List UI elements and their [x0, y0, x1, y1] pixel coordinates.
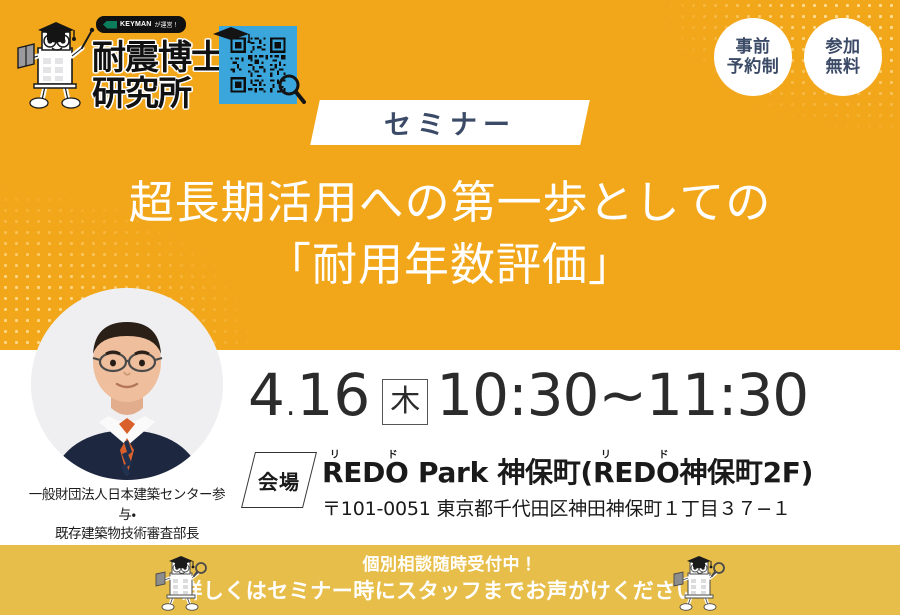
kicker-sub-label: が運営！: [155, 20, 179, 29]
speaker-role-line1: 一般財団法人日本建築センター参与・: [22, 486, 232, 525]
badge-free-line2: 無料: [826, 57, 861, 77]
keyman-mark-icon: [103, 21, 117, 29]
venue-lines: REDOリ ド Park 神保町(REDOリ ド神保町2F) 〒101-0051…: [322, 448, 813, 521]
page-title-line2: 「耐用年数評価」: [0, 234, 900, 296]
magnifying-glass-icon: [278, 74, 306, 104]
venue-address: 〒101-0051 東京都千代田区神田神保町１丁目３７−１: [322, 494, 813, 521]
details-section: 一般財団法人日本建築センター参与・ 既存建築物技術審査部長 元木 周二様 4 .…: [0, 350, 900, 545]
venue-name-part4: 神保町2F): [679, 456, 813, 489]
speaker-portrait-icon: [31, 288, 223, 480]
venue-name-ruby2: REDOリ ド: [593, 456, 680, 489]
event-month: 4: [248, 366, 285, 424]
speaker-role-line2: 既存建築物技術審査部長: [22, 525, 232, 545]
venue-ruby-2: リ ド: [593, 450, 680, 461]
speaker-role: 一般財団法人日本建築センター参与・ 既存建築物技術審査部長: [22, 486, 232, 545]
venue-tag: 会場: [248, 452, 310, 508]
banner-text: 個別相談随時受付中！ 詳しくはセミナー時にスタッフまでお声がけください！: [181, 554, 719, 605]
venue-name-part2: Park 神保町(: [409, 456, 593, 489]
badge-group: 事前 予約制 参加 無料: [714, 18, 882, 96]
event-day-of-week: 木: [382, 379, 428, 425]
building-professor-mascot-icon-right: [670, 551, 728, 611]
event-time: 10:30~11:30: [436, 366, 808, 424]
badge-reservation-line1: 事前: [736, 37, 771, 57]
badge-free-participation: 参加 無料: [804, 18, 882, 96]
badge-reservation-line2: 予約制: [727, 57, 780, 77]
venue-tag-label: 会場: [248, 452, 310, 508]
event-datetime: 4 . 16 木 10:30~11:30: [248, 366, 808, 429]
seminar-ribbon-label: セミナー: [384, 103, 516, 142]
badge-reservation-required: 事前 予約制: [714, 18, 792, 96]
kicker-brand-label: KEYMAN: [120, 21, 152, 28]
brand-line2: 研究所: [92, 66, 191, 115]
banner-line2: 詳しくはセミナー時にスタッフまでお声がけください！: [181, 578, 719, 605]
building-professor-mascot-icon-left: [152, 551, 210, 611]
banner-line1: 個別相談随時受付中！: [181, 554, 719, 576]
bottom-banner: 個別相談随時受付中！ 詳しくはセミナー時にスタッフまでお声がけください！: [0, 545, 900, 615]
venue-ruby-1: リ ド: [322, 450, 409, 461]
badge-free-line1: 参加: [826, 37, 861, 57]
date-separator: .: [286, 391, 296, 421]
page-title-line1: 超長期活用への第一歩としての: [129, 176, 772, 229]
venue-block: 会場 REDOリ ド Park 神保町(REDOリ ド神保町2F) 〒101-0…: [248, 448, 813, 521]
graduation-cap-icon: [211, 26, 251, 43]
event-day: 16: [296, 366, 370, 424]
building-professor-mascot-icon: [12, 14, 98, 110]
speaker-block: 一般財団法人日本建築センター参与・ 既存建築物技術審査部長 元木 周二様: [22, 288, 232, 581]
page-title: 超長期活用への第一歩としての 「耐用年数評価」: [0, 172, 900, 296]
seminar-ribbon: セミナー: [310, 100, 590, 145]
venue-name-ruby1: REDOリ ド: [322, 456, 409, 489]
venue-name: REDOリ ド Park 神保町(REDOリ ド神保町2F): [322, 450, 813, 489]
seminar-flyer: KEYMAN が運営！ 耐震博士 研究所: [0, 0, 900, 615]
